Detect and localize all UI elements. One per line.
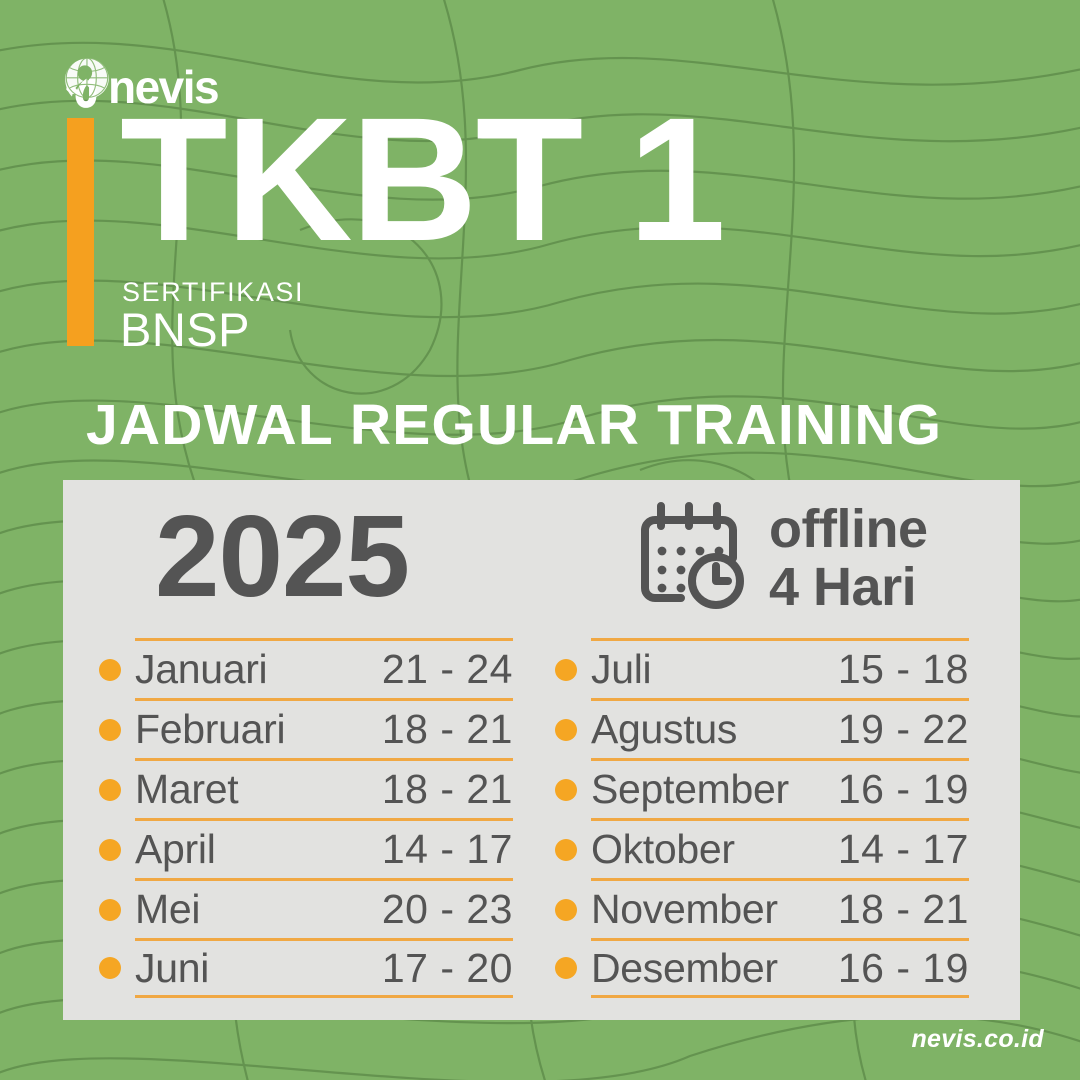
month-label: Januari bbox=[135, 649, 267, 690]
month-label: November bbox=[591, 889, 778, 930]
bullet-icon bbox=[99, 779, 121, 801]
table-row[interactable]: Februari 18 - 21 bbox=[135, 698, 513, 758]
date-range: 18 - 21 bbox=[382, 769, 513, 810]
table-row[interactable]: Agustus 19 - 22 bbox=[591, 698, 969, 758]
date-range: 14 - 17 bbox=[382, 829, 513, 870]
month-label: September bbox=[591, 769, 789, 810]
date-range: 20 - 23 bbox=[382, 889, 513, 930]
schedule-card-header: 2025 bbox=[63, 480, 1020, 635]
certification-label: SERTIFIKASI bbox=[122, 279, 304, 306]
bullet-icon bbox=[99, 899, 121, 921]
schedule-column-first-half: Januari 21 - 24 Februari 18 - 21 Maret 1… bbox=[85, 638, 513, 998]
table-row[interactable]: Desember 16 - 19 bbox=[591, 938, 969, 998]
footer-website[interactable]: nevis.co.id bbox=[911, 1025, 1044, 1054]
month-label: Februari bbox=[135, 709, 285, 750]
month-label: Juni bbox=[135, 948, 209, 989]
table-row[interactable]: November 18 - 21 bbox=[591, 878, 969, 938]
table-row[interactable]: Januari 21 - 24 bbox=[135, 638, 513, 698]
bullet-icon bbox=[555, 957, 577, 979]
bullet-icon bbox=[555, 839, 577, 861]
calendar-clock-icon bbox=[631, 496, 747, 612]
globe-leaf-emblem-icon bbox=[62, 55, 114, 111]
table-row[interactable]: September 16 - 19 bbox=[591, 758, 969, 818]
date-range: 21 - 24 bbox=[382, 649, 513, 690]
date-range: 19 - 22 bbox=[838, 709, 969, 750]
month-label: Oktober bbox=[591, 829, 735, 870]
table-row[interactable]: Maret 18 - 21 bbox=[135, 758, 513, 818]
date-range: 18 - 21 bbox=[838, 889, 969, 930]
table-row[interactable]: Oktober 14 - 17 bbox=[591, 818, 969, 878]
certification-body: BNSP bbox=[120, 305, 250, 354]
month-label: Juli bbox=[591, 649, 651, 690]
month-label: Agustus bbox=[591, 709, 737, 750]
table-row[interactable]: April 14 - 17 bbox=[135, 818, 513, 878]
year-label: 2025 bbox=[155, 498, 409, 614]
bullet-icon bbox=[555, 779, 577, 801]
training-mode: offline bbox=[769, 500, 927, 558]
bullet-icon bbox=[99, 957, 121, 979]
month-label: April bbox=[135, 829, 216, 870]
date-range: 17 - 20 bbox=[382, 948, 513, 989]
table-row[interactable]: Juli 15 - 18 bbox=[591, 638, 969, 698]
table-row[interactable]: Mei 20 - 23 bbox=[135, 878, 513, 938]
schedule-card: 2025 bbox=[63, 480, 1020, 1020]
schedule-column-second-half: Juli 15 - 18 Agustus 19 - 22 September 1… bbox=[541, 638, 969, 998]
date-range: 18 - 21 bbox=[382, 709, 513, 750]
training-duration: 4 Hari bbox=[769, 558, 927, 616]
month-label: Desember bbox=[591, 948, 778, 989]
bullet-icon bbox=[555, 659, 577, 681]
orange-accent-bar bbox=[67, 118, 94, 346]
date-range: 14 - 17 bbox=[838, 829, 969, 870]
page-subtitle: JADWAL REGULAR TRAINING bbox=[86, 397, 942, 454]
bullet-icon bbox=[555, 719, 577, 741]
page-title: TKBT 1 bbox=[120, 92, 724, 268]
month-label: Maret bbox=[135, 769, 238, 810]
bullet-icon bbox=[99, 719, 121, 741]
date-range: 15 - 18 bbox=[838, 649, 969, 690]
training-mode-block: offline 4 Hari bbox=[769, 500, 927, 617]
table-row[interactable]: Juni 17 - 20 bbox=[135, 938, 513, 998]
date-range: 16 - 19 bbox=[838, 769, 969, 810]
bullet-icon bbox=[99, 839, 121, 861]
bullet-icon bbox=[99, 659, 121, 681]
bullet-icon bbox=[555, 899, 577, 921]
month-label: Mei bbox=[135, 889, 200, 930]
poster-root: nevis TKBT 1 SERTIFIKASI BNSP JADWAL REG… bbox=[0, 0, 1080, 1080]
date-range: 16 - 19 bbox=[838, 948, 969, 989]
